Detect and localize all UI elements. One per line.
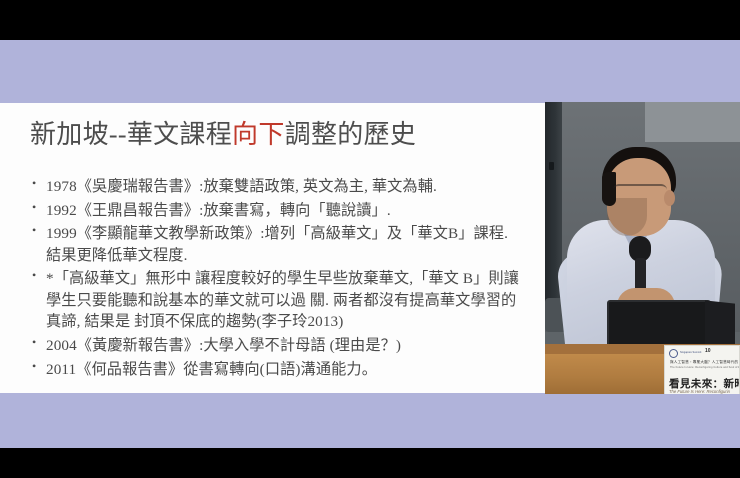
banner-subtitle-cn: 與人工智慧‧專業大腦？人工智慧時代的 文	[670, 360, 740, 365]
slide-title-suffix: 調整的歷史	[285, 120, 417, 149]
speaker-photo-inset: Singapore Summit 10 與人工智慧‧專業大腦？人工智慧時代的 文…	[545, 102, 740, 394]
podium-monitor	[607, 300, 711, 348]
wall-panel	[645, 102, 740, 142]
letterbox-bar-top	[0, 0, 740, 40]
list-item: 2004《黃慶新報告書》:大學入學不計母語 (理由是？)	[30, 335, 525, 357]
banner-number: 10	[705, 348, 711, 354]
slide-title-prefix: 新加坡--華文課程	[30, 120, 232, 149]
slide-title: 新加坡--華文課程向下調整的歷史	[30, 118, 530, 152]
banner-logo-text: Singapore Summit	[680, 352, 701, 355]
podium-banner: Singapore Summit 10 與人工智慧‧專業大腦？人工智慧時代的 文…	[664, 345, 740, 394]
video-viewport: 新加坡--華文課程向下調整的歷史 1978《吳慶瑞報告書》:放棄雙語政策, 英文…	[0, 0, 740, 478]
institution-logo-icon	[669, 349, 678, 358]
list-item: 1999《李顯龍華文教學新政策》:增列「高級華文」及「華文B」課程. 結果更降低…	[30, 223, 525, 266]
slide-title-accent: 向下	[232, 120, 285, 149]
banner-headline-en: The Future Is Here: Reconfigurin	[669, 389, 730, 394]
letterbox-bar-bottom	[0, 448, 740, 478]
slide-bullet-list: 1978《吳慶瑞報告書》:放棄雙語政策, 英文為主, 華文為輔. 1992《王鼎…	[30, 176, 525, 382]
list-item: *「高級華文」無形中 讓程度較好的學生早些放棄華文,「華文 B」則讓學生只要能聽…	[30, 268, 525, 333]
list-item: 1992《王鼎昌報告書》:放棄書寫，轉向「聽說讀」.	[30, 200, 525, 222]
banner-subtitle-en: The Future Is Here: Reconfiguring Cultur…	[670, 366, 740, 369]
list-item: 2011《何品報告書》從書寫轉向(口語)溝通能力。	[30, 359, 525, 381]
glasses-icon	[613, 184, 667, 197]
list-item: 1978《吳慶瑞報告書》:放棄雙語政策, 英文為主, 華文為輔.	[30, 176, 525, 198]
podium-monitor-side	[705, 300, 735, 347]
door-knob	[549, 162, 554, 170]
banner-logo-row: Singapore Summit	[669, 349, 701, 358]
